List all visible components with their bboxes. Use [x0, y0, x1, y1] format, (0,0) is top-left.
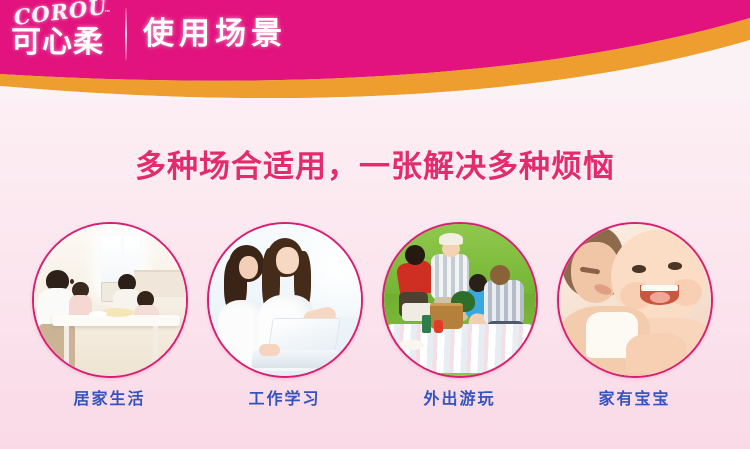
scenario-card-home[interactable]: 居家生活: [22, 222, 197, 422]
scenario-caption-work: 工作学习: [197, 388, 372, 410]
brand-logo: COROU ™ 可心柔: [8, 4, 120, 66]
header-title: 使用场景: [143, 13, 287, 55]
scenario-caption-outdoor: 外出游玩: [372, 388, 547, 410]
header-divider: [125, 8, 127, 60]
scenario-card-outdoor[interactable]: 外出游玩: [372, 222, 547, 422]
logo-chinese-text: 可心柔: [11, 23, 119, 63]
page-header: COROU ™ 可心柔 使用场景: [0, 0, 750, 100]
mother-kissing-baby-illustration: [559, 224, 711, 376]
scenario-caption-home: 居家生活: [22, 388, 197, 410]
scenario-image-home: [32, 222, 188, 378]
family-picnic-grass-illustration: [384, 224, 536, 376]
scenario-image-outdoor: [382, 222, 538, 378]
scenario-caption-baby: 家有宝宝: [547, 388, 722, 410]
scenario-image-baby: [557, 222, 713, 378]
scenario-card-row: 居家生活 工作学习: [0, 222, 750, 422]
page-headline: 多种场合适用，一张解决多种烦恼: [0, 146, 750, 188]
scenario-image-work: [207, 222, 363, 378]
scenario-card-baby[interactable]: 家有宝宝: [547, 222, 722, 422]
family-dining-kitchen-illustration: [34, 224, 186, 376]
two-women-laptop-office-illustration: [209, 224, 361, 376]
trademark-icon: ™: [104, 9, 111, 17]
scenario-card-work[interactable]: 工作学习: [197, 222, 372, 422]
